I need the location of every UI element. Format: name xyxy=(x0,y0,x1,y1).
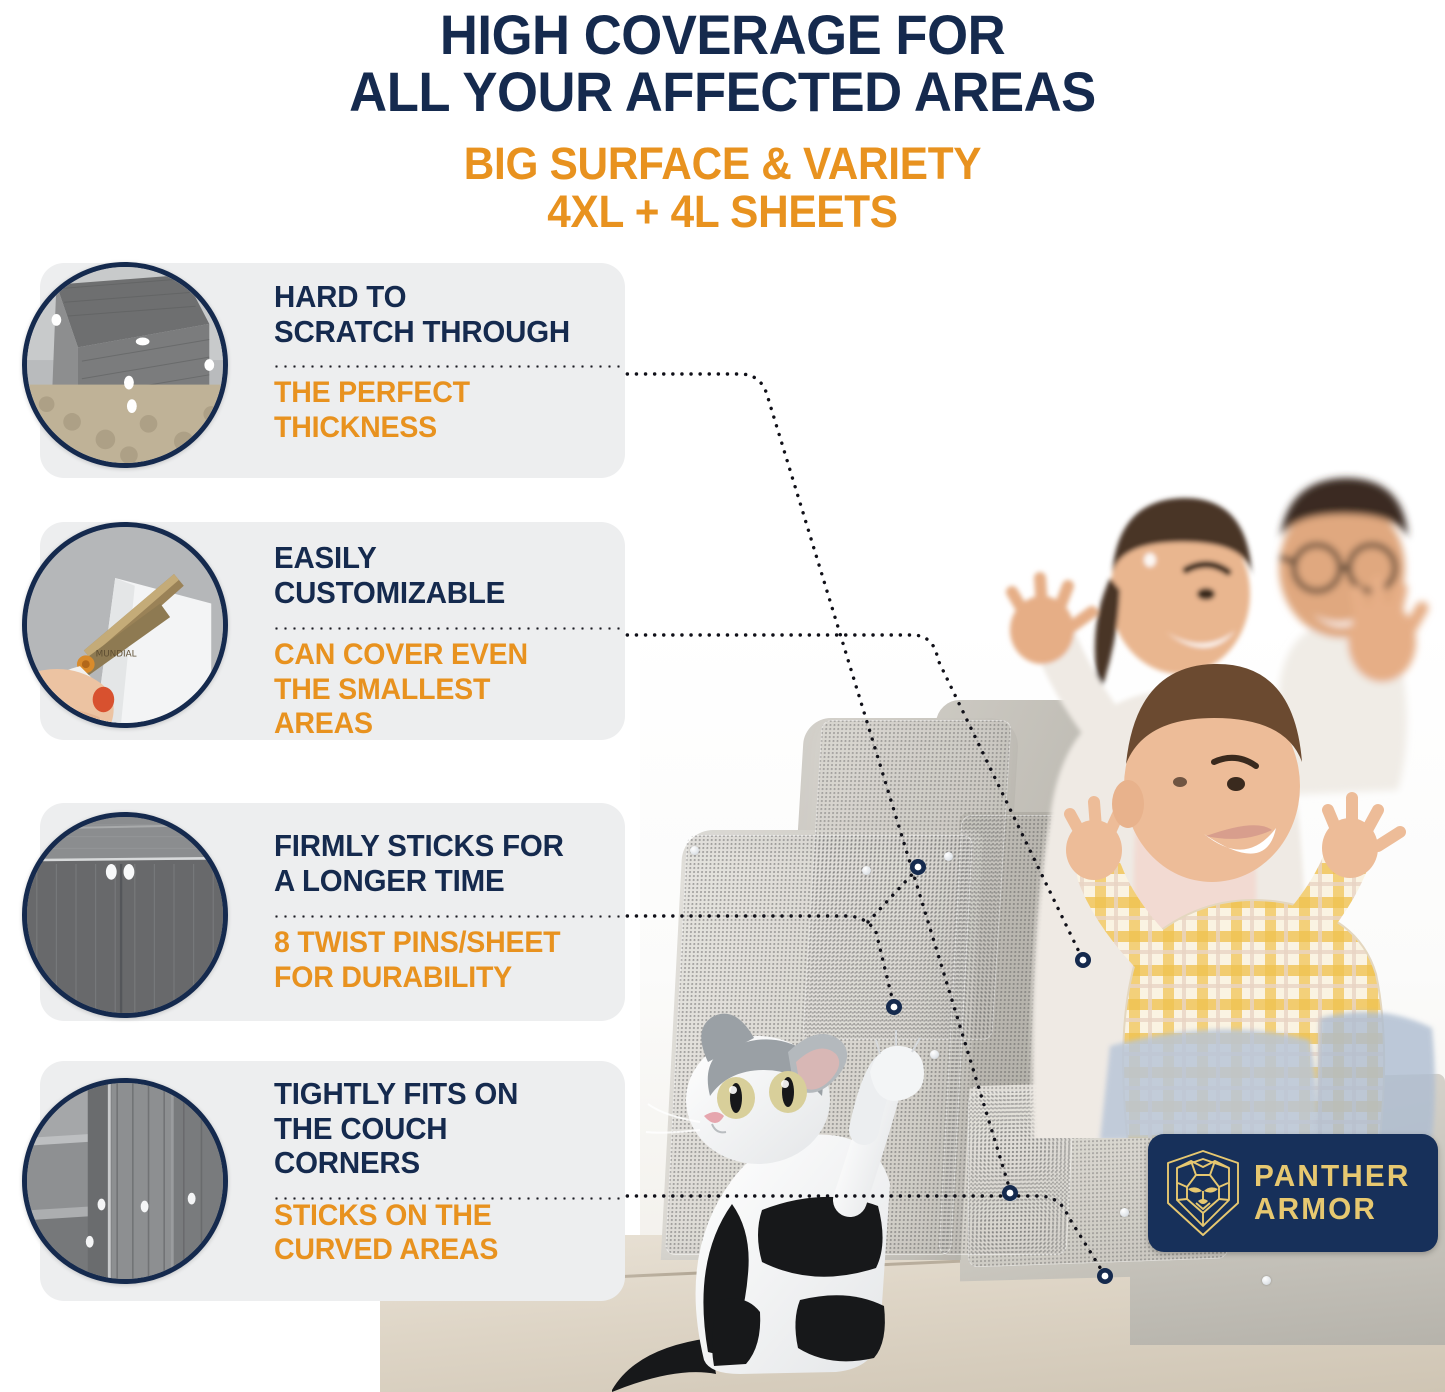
twist-pin xyxy=(1120,1208,1129,1217)
svg-text:MUNDIAL: MUNDIAL xyxy=(96,649,137,659)
feature-subtitle-line: 8 TWIST PINS/SHEET xyxy=(274,926,590,960)
feature-subtitle-line: CURVED AREAS xyxy=(274,1233,590,1267)
brand-name-line-1: PANTHER xyxy=(1254,1160,1410,1193)
feature-thumbnail-couch-corner-on-carpet[interactable] xyxy=(22,262,228,468)
feature-title-line: CUSTOMIZABLE xyxy=(274,576,590,611)
feature-title-line: CORNERS xyxy=(274,1146,590,1181)
headline-line-1: HIGH COVERAGE FOR xyxy=(43,6,1401,63)
feature-title-line: EASILY xyxy=(274,541,590,576)
brand-name-line-2: ARMOR xyxy=(1254,1193,1410,1226)
feature-subtitle-line: THICKNESS xyxy=(274,411,590,445)
twist-pin xyxy=(1262,1276,1271,1285)
headline-block: HIGH COVERAGE FOR ALL YOUR AFFECTED AREA… xyxy=(0,6,1445,236)
feature-subtitle-line: CAN COVER EVEN xyxy=(274,638,590,672)
feature-thumbnail-scissors-cutting-sheet[interactable]: MUNDIAL xyxy=(22,522,228,728)
couch-corner-on-carpet-photo xyxy=(27,267,223,463)
feature-subtitle-line: FOR DURABILITY xyxy=(274,961,590,995)
twist-pins-on-couch-photo xyxy=(27,817,223,1013)
feature-title-line: HARD TO xyxy=(274,280,590,315)
twist-pin xyxy=(690,846,699,855)
feature-subtitle-line: THE SMALLEST AREAS xyxy=(274,673,590,741)
feature-title-line: TIGHTLY FITS ON xyxy=(274,1077,590,1112)
couch-corner-curve-photo xyxy=(27,1083,223,1279)
twist-pin xyxy=(862,866,871,875)
feature-thumbnail-twist-pins-on-couch[interactable] xyxy=(22,812,228,1018)
feature-text-4: TIGHTLY FITS ON THE COUCH CORNERS STICKS… xyxy=(274,1061,607,1301)
feature-thumbnail-couch-corner-curve[interactable] xyxy=(22,1078,228,1284)
feature-text-3: FIRMLY STICKS FOR A LONGER TIME 8 TWIST … xyxy=(274,803,607,1021)
feature-text-2: EASILY CUSTOMIZABLE CAN COVER EVEN THE S… xyxy=(274,522,607,740)
subheadline-line-2: 4XL + 4L SHEETS xyxy=(43,188,1401,236)
feature-title-line: A LONGER TIME xyxy=(274,864,590,899)
cat-scratching-couch-photo xyxy=(612,1000,942,1392)
infographic-canvas: HIGH COVERAGE FOR ALL YOUR AFFECTED AREA… xyxy=(0,0,1445,1392)
scissors-cutting-sheet-photo: MUNDIAL xyxy=(27,527,223,723)
brand-logo[interactable]: PANTHER ARMOR xyxy=(1148,1134,1438,1252)
headline-line-2: ALL YOUR AFFECTED AREAS xyxy=(43,63,1401,120)
subheadline-line-1: BIG SURFACE & VARIETY xyxy=(43,140,1401,188)
panther-head-shield-icon xyxy=(1162,1147,1244,1239)
feature-title-line: FIRMLY STICKS FOR xyxy=(274,829,590,864)
twist-pin xyxy=(944,852,953,861)
feature-title-line: SCRATCH THROUGH xyxy=(274,315,590,350)
family-on-couch-photo xyxy=(990,418,1445,1138)
twist-pin xyxy=(1008,1192,1017,1201)
feature-title-line: THE COUCH xyxy=(274,1112,590,1147)
feature-subtitle-line: STICKS ON THE xyxy=(274,1199,590,1233)
brand-name: PANTHER ARMOR xyxy=(1254,1160,1410,1225)
feature-text-1: HARD TO SCRATCH THROUGH THE PERFECT THIC… xyxy=(274,263,607,478)
feature-subtitle-line: THE PERFECT xyxy=(274,376,590,410)
